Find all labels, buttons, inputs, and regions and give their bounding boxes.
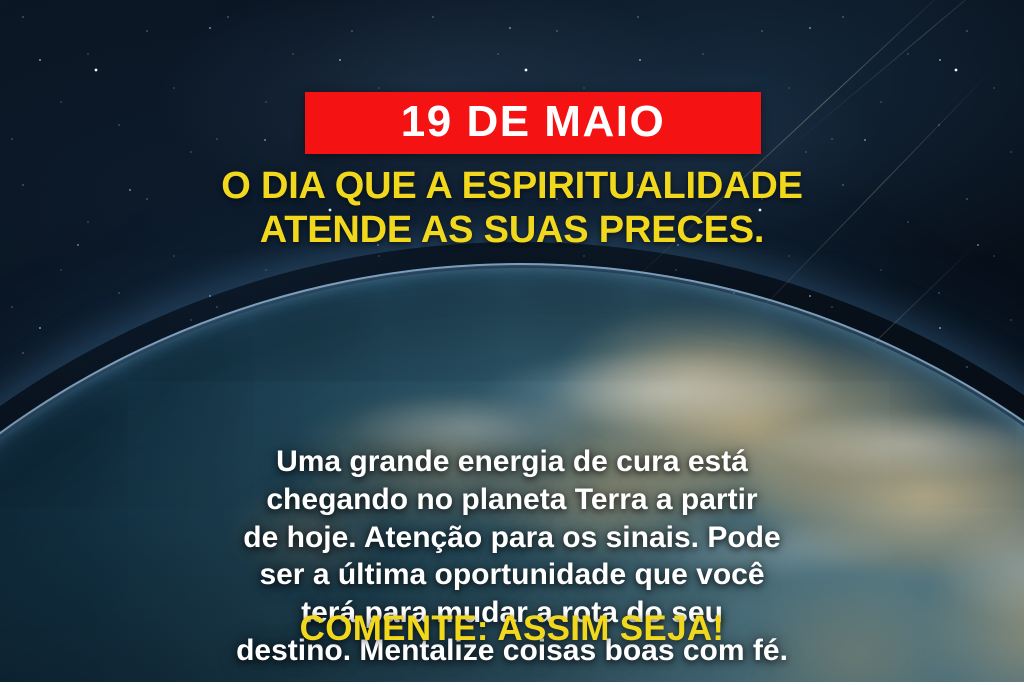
headline-line-2: ATENDE AS SUAS PRECES. [52,208,972,252]
social-media-poster: 19 DE MAIO O DIA QUE A ESPIRITUALIDADE A… [0,0,1024,685]
body-line-1: Uma grande energia de cura está [38,443,986,481]
date-banner-text: 19 DE MAIO [401,100,665,144]
headline-line-1: O DIA QUE A ESPIRITUALIDADE [52,164,972,208]
body-line-2: chegando no planeta Terra a partir [38,481,986,519]
headline: O DIA QUE A ESPIRITUALIDADE ATENDE AS SU… [0,164,1024,252]
date-banner: 19 DE MAIO [305,92,761,154]
call-to-action-text: COMENTE: ASSIM SEJA! [0,611,1024,646]
body-line-3: de hoje. Atenção para os sinais. Pode [38,519,986,557]
body-line-4: ser a última oportunidade que você [38,556,986,594]
